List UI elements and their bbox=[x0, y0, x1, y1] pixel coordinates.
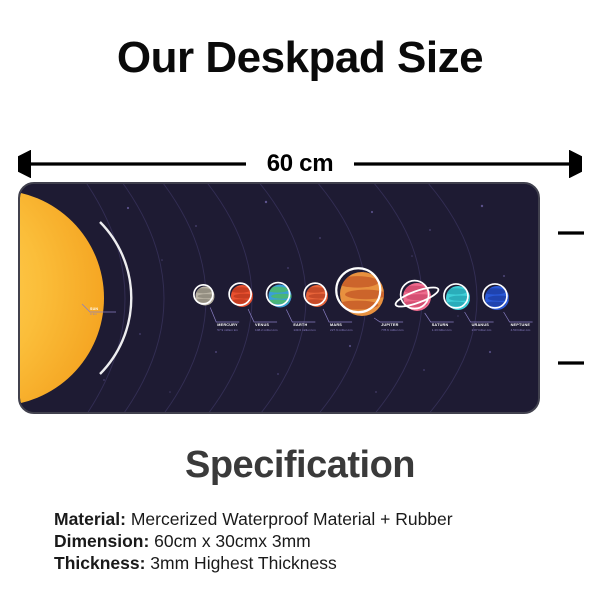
spec-list: Material: Mercerized Waterproof Material… bbox=[54, 508, 564, 574]
planet-detail: 57.9 million km bbox=[217, 328, 238, 332]
planet-detail: 2.87 billion km bbox=[472, 328, 492, 332]
sun-name: SUN bbox=[90, 307, 98, 311]
planet-name: SATURN bbox=[432, 323, 449, 327]
spec-value: Mercerized Waterproof Material + Rubber bbox=[126, 509, 453, 529]
spec-title: Specification bbox=[0, 446, 600, 484]
spec-key: Dimension: bbox=[54, 531, 149, 551]
spec-value: 60cm x 30cmx 3mm bbox=[149, 531, 310, 551]
spec-row: Material: Mercerized Waterproof Material… bbox=[54, 508, 564, 530]
planet-detail: 108.2 million km bbox=[255, 328, 278, 332]
spec-row: Dimension: 60cm x 30cmx 3mm bbox=[54, 530, 564, 552]
spec-key: Thickness: bbox=[54, 553, 145, 573]
spec-key: Material: bbox=[54, 509, 126, 529]
planet-name: MARS bbox=[330, 323, 342, 327]
planet-name: JUPITER bbox=[381, 323, 398, 327]
planet-detail: 778.6 million km bbox=[381, 328, 404, 332]
planet-name: URANUS bbox=[472, 323, 490, 327]
height-dimension-arrow bbox=[558, 182, 584, 414]
planet-name: NEPTUNE bbox=[511, 323, 531, 327]
page-title: Our Deskpad Size bbox=[0, 36, 600, 80]
planet-detail: 1.43 billion km bbox=[432, 328, 452, 332]
sun-detail: 0 km bbox=[90, 312, 97, 316]
spec-value: 3mm Highest Thickness bbox=[145, 553, 336, 573]
spec-row: Thickness: 3mm Highest Thickness bbox=[54, 552, 564, 574]
solar-system-artwork: SUN 0 km MERCURY57.9 million kmVENUS108.… bbox=[20, 184, 538, 412]
deskpad-mockup: SUN 0 km MERCURY57.9 million kmVENUS108.… bbox=[18, 182, 540, 414]
width-label: 60 cm bbox=[0, 150, 600, 178]
planet-detail: 4.50 billion km bbox=[511, 328, 531, 332]
planet-detail: 149.6 million km bbox=[293, 328, 316, 332]
planet-detail: 227.9 million km bbox=[330, 328, 353, 332]
infographic-page: Our Deskpad Size 60 cm 30 cm bbox=[0, 0, 600, 600]
planet-name: VENUS bbox=[255, 323, 269, 327]
planet-name: MERCURY bbox=[217, 323, 238, 327]
planet-name: EARTH bbox=[293, 323, 307, 327]
